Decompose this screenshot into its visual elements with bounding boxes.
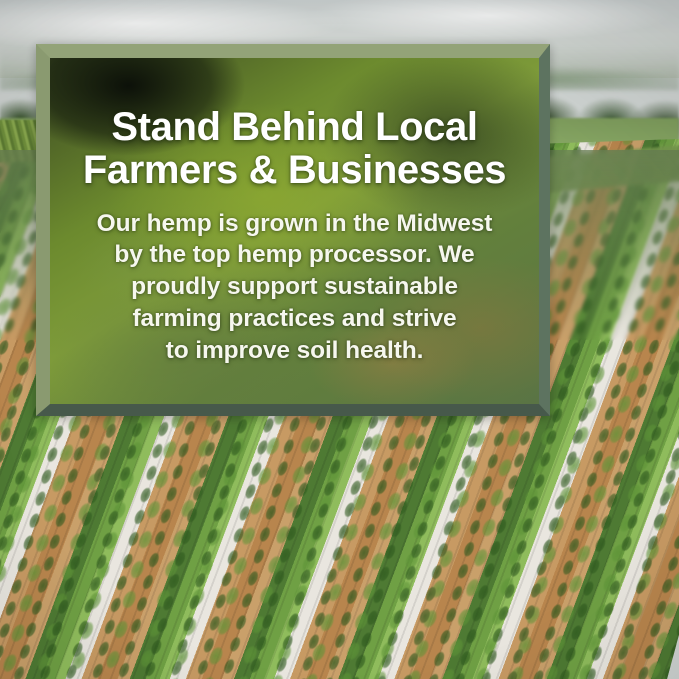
- body-line-3: proudly support sustainable: [64, 271, 525, 303]
- headline-line-1: Stand Behind Local: [64, 106, 525, 149]
- message-card: Stand Behind Local Farmers & Businesses …: [36, 44, 550, 416]
- body-line-2: by the top hemp processor. We: [64, 239, 525, 271]
- body-line-5: to improve soil health.: [64, 335, 525, 367]
- card-body-text: Our hemp is grown in the Midwest by the …: [64, 208, 525, 367]
- body-line-1: Our hemp is grown in the Midwest: [64, 208, 525, 240]
- card-headline: Stand Behind Local Farmers & Businesses: [64, 106, 525, 192]
- promo-banner: Stand Behind Local Farmers & Businesses …: [0, 0, 679, 679]
- body-line-4: farming practices and strive: [64, 303, 525, 335]
- card-content: Stand Behind Local Farmers & Businesses …: [50, 58, 539, 404]
- headline-line-2: Farmers & Businesses: [64, 149, 525, 192]
